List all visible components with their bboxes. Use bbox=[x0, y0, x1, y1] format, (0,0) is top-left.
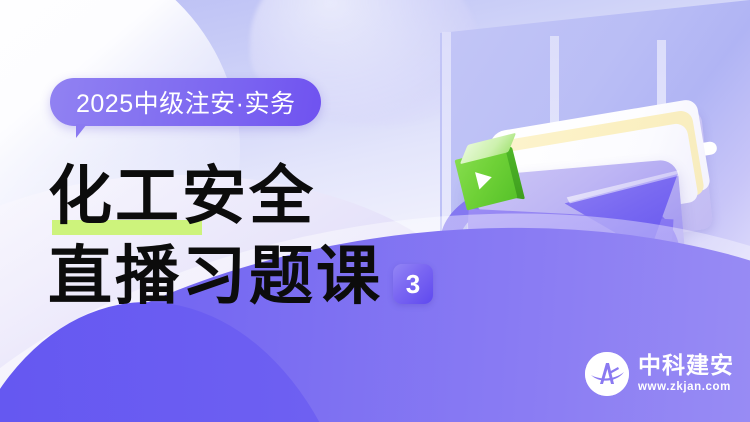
headline-block: 化工安全 直播习题课 3 bbox=[48, 158, 468, 310]
course-title-line-2: 直播习题课 bbox=[48, 244, 383, 310]
brand-name: 中科建安 bbox=[638, 354, 734, 377]
episode-number-badge: 3 bbox=[393, 264, 433, 304]
brand-logo-text: 中科建安 www.zkjan.com bbox=[638, 354, 734, 394]
course-banner: 2025中级注安·实务 化工安全 直播习题课 3 中科建安 www.zkjan.… bbox=[0, 0, 750, 422]
zkjan-circle-logo-icon bbox=[585, 352, 629, 396]
title-line-1-row: 化工安全 bbox=[48, 158, 468, 230]
course-title-line-1: 化工安全 bbox=[48, 164, 316, 230]
course-category-badge: 2025中级注安·实务 bbox=[50, 78, 321, 126]
brand-logo: 中科建安 www.zkjan.com bbox=[585, 352, 734, 396]
green-cube-play-icon bbox=[460, 143, 522, 205]
badge-speech-tail bbox=[76, 124, 98, 138]
title-line-2-row: 直播习题课 3 bbox=[48, 244, 468, 310]
course-category-badge-label: 2025中级注安·实务 bbox=[76, 84, 295, 120]
brand-url: www.zkjan.com bbox=[638, 382, 734, 394]
